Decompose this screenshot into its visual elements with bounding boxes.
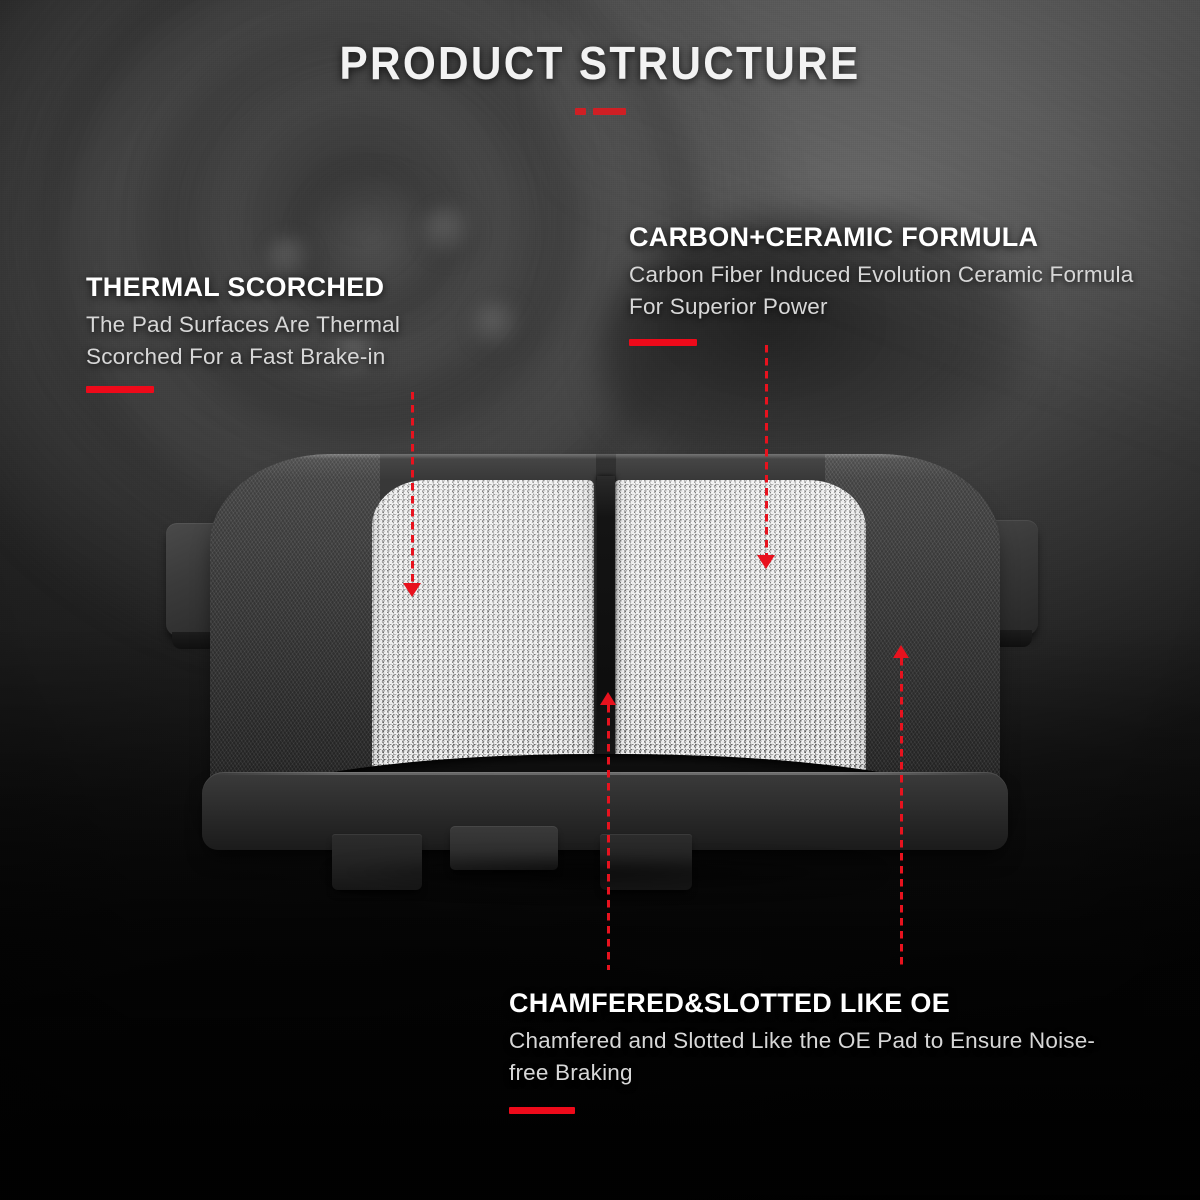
leader-line-thermal [411,392,414,584]
leader-arrow-slot-icon [600,692,616,705]
callout-thermal-scorched-body: The Pad Surfaces Are Thermal Scorched Fo… [86,309,486,373]
leader-arrow-chamfer-right-icon [893,645,909,658]
leader-line-chamfer-right [900,658,903,970]
callout-carbon-ceramic-formula-body: Carbon Fiber Induced Evolution Ceramic F… [629,259,1169,323]
product-structure-infographic: PRODUCT STRUCTURE [0,0,1200,1200]
page-title: PRODUCT STRUCTURE [48,36,1152,90]
callout-thermal-scorched: THERMAL SCORCHED The Pad Surfaces Are Th… [86,272,486,393]
leader-arrow-formula-icon [757,555,775,569]
callout-chamfered-slotted-like-oe: CHAMFERED&SLOTTED LIKE OE Chamfered and … [509,988,1109,1114]
title-divider-dash-short [575,108,586,115]
leader-arrow-thermal-icon [403,583,421,597]
callout-chamfered-slotted-like-oe-underline [509,1107,575,1114]
pad-rim-highlight [210,454,1000,550]
callout-carbon-ceramic-formula: CARBON+CERAMIC FORMULA Carbon Fiber Indu… [629,222,1169,346]
leader-line-formula [765,345,768,556]
title-divider [0,107,1200,115]
title-divider-dash-long [593,108,626,115]
callout-carbon-ceramic-formula-heading: CARBON+CERAMIC FORMULA [629,222,1169,252]
leader-line-slot [607,705,610,970]
callout-chamfered-slotted-like-oe-heading: CHAMFERED&SLOTTED LIKE OE [509,988,1109,1018]
pad-drop-shadow [220,860,990,902]
callout-thermal-scorched-underline [86,386,154,393]
backing-plate-highlight [210,772,1000,775]
callout-thermal-scorched-heading: THERMAL SCORCHED [86,272,486,302]
pad-body [210,454,1000,814]
brake-pad-image [150,420,1050,880]
callout-chamfered-slotted-like-oe-body: Chamfered and Slotted Like the OE Pad to… [509,1025,1109,1089]
callout-carbon-ceramic-formula-underline [629,339,697,346]
